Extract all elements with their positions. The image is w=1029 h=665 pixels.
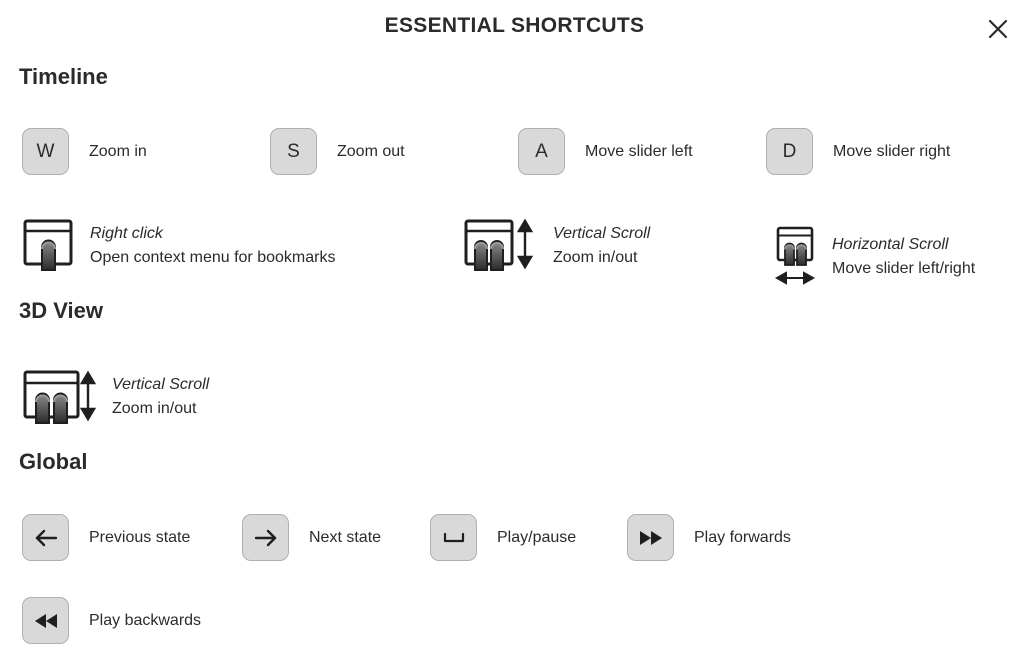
- gesture-3dview-vertical-scroll[interactable]: Vertical Scroll Zoom in/out: [22, 369, 209, 425]
- touchpad-vertical-scroll-icon: [463, 218, 539, 274]
- shortcut-previous-state[interactable]: Previous state: [22, 514, 190, 561]
- gesture-desc: Zoom in/out: [553, 246, 650, 270]
- touchpad-vertical-scroll-icon: [22, 369, 98, 425]
- section-heading-3dview: 3D View: [19, 298, 103, 324]
- gesture-desc: Open context menu for bookmarks: [90, 246, 335, 270]
- shortcut-move-slider-left[interactable]: A Move slider left: [518, 128, 693, 175]
- shortcut-zoom-out[interactable]: S Zoom out: [270, 128, 405, 175]
- spacebar-icon[interactable]: [430, 514, 477, 561]
- shortcut-label: Zoom in: [89, 143, 147, 161]
- key-s[interactable]: S: [270, 128, 317, 175]
- key-a[interactable]: A: [518, 128, 565, 175]
- arrow-left-icon[interactable]: [22, 514, 69, 561]
- shortcut-zoom-in[interactable]: W Zoom in: [22, 128, 147, 175]
- shortcut-move-slider-right[interactable]: D Move slider right: [766, 128, 950, 175]
- close-button[interactable]: [983, 14, 1013, 44]
- gesture-name: Horizontal Scroll: [832, 233, 975, 257]
- shortcut-label: Next state: [309, 529, 381, 547]
- gesture-horizontal-scroll[interactable]: Horizontal Scroll Move slider left/right: [772, 226, 975, 288]
- shortcut-label: Play backwards: [89, 612, 201, 630]
- touchpad-right-click-icon: [22, 218, 76, 274]
- gesture-text: Horizontal Scroll Move slider left/right: [832, 233, 975, 281]
- gesture-right-click[interactable]: Right click Open context menu for bookma…: [22, 218, 335, 274]
- arrow-right-icon[interactable]: [242, 514, 289, 561]
- shortcut-label: Previous state: [89, 529, 190, 547]
- gesture-text: Right click Open context menu for bookma…: [90, 222, 335, 270]
- touchpad-horizontal-scroll-icon: [772, 226, 818, 288]
- key-w[interactable]: W: [22, 128, 69, 175]
- shortcut-play-pause[interactable]: Play/pause: [430, 514, 576, 561]
- shortcut-play-backwards[interactable]: Play backwards: [22, 597, 201, 644]
- shortcut-label: Move slider left: [585, 143, 693, 161]
- gesture-desc: Move slider left/right: [832, 257, 975, 281]
- gesture-name: Vertical Scroll: [112, 373, 209, 397]
- fast-forward-icon[interactable]: [627, 514, 674, 561]
- page-title: ESSENTIAL SHORTCUTS: [0, 14, 1029, 38]
- section-heading-global: Global: [19, 449, 87, 475]
- gesture-text: Vertical Scroll Zoom in/out: [553, 222, 650, 270]
- shortcut-label: Move slider right: [833, 143, 950, 161]
- gesture-name: Right click: [90, 222, 335, 246]
- shortcut-label: Zoom out: [337, 143, 405, 161]
- shortcut-play-forwards[interactable]: Play forwards: [627, 514, 791, 561]
- shortcut-next-state[interactable]: Next state: [242, 514, 381, 561]
- section-heading-timeline: Timeline: [19, 64, 108, 90]
- shortcut-label: Play forwards: [694, 529, 791, 547]
- shortcut-label: Play/pause: [497, 529, 576, 547]
- gesture-name: Vertical Scroll: [553, 222, 650, 246]
- gesture-desc: Zoom in/out: [112, 397, 209, 421]
- rewind-icon[interactable]: [22, 597, 69, 644]
- gesture-vertical-scroll[interactable]: Vertical Scroll Zoom in/out: [463, 218, 650, 274]
- key-d[interactable]: D: [766, 128, 813, 175]
- essential-shortcuts-dialog: ESSENTIAL SHORTCUTS Timeline W Zoom in S…: [0, 0, 1029, 665]
- gesture-text: Vertical Scroll Zoom in/out: [112, 373, 209, 421]
- close-icon: [987, 18, 1009, 40]
